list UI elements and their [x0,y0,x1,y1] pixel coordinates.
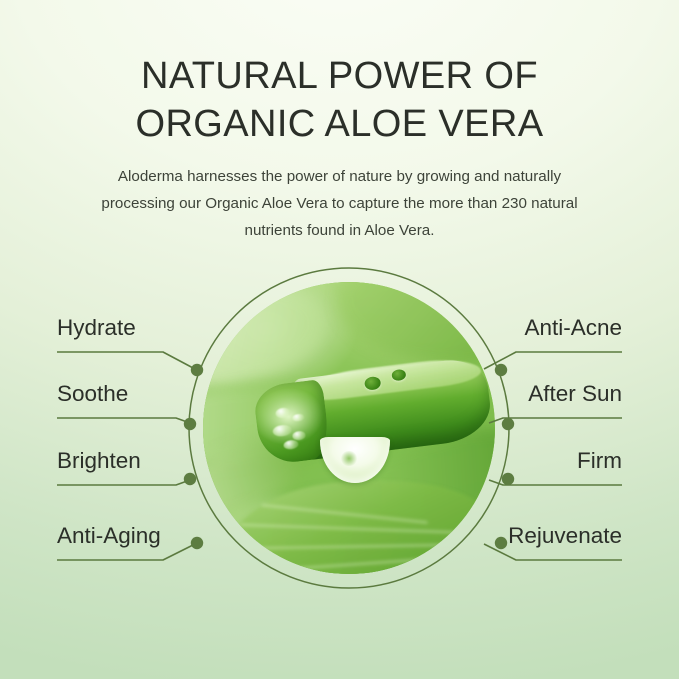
aloe-vera-photo [203,282,495,574]
connector-anti-acne [484,352,622,369]
photo-vignette [203,282,495,574]
connector-soothe [57,418,190,423]
node-dot-firm [502,473,514,485]
benefit-label-brighten: Brighten [57,450,141,473]
benefit-label-anti-acne: Anti-Acne [524,317,622,340]
node-dot-soothe [184,418,196,430]
benefit-label-soothe: Soothe [57,383,128,406]
node-dot-brighten [184,473,196,485]
benefit-label-anti-aging: Anti-Aging [57,525,161,548]
node-dot-anti-aging [191,537,203,549]
benefit-label-after-sun: After Sun [528,383,622,406]
connector-hydrate [57,352,195,369]
benefit-label-hydrate: Hydrate [57,317,136,340]
connector-brighten [57,480,190,485]
node-dot-after-sun [502,418,514,430]
connector-after-sun [489,418,622,423]
node-dot-rejuvenate [495,537,507,549]
aloe-vera-infographic: NATURAL POWER OF ORGANIC ALOE VERA Alode… [0,0,679,679]
node-dot-hydrate [191,364,203,376]
benefit-label-firm: Firm [577,450,622,473]
connector-firm [489,480,622,485]
benefits-diagram: Hydrate Soothe Brighten Anti-Aging Anti-… [0,0,679,679]
benefit-label-rejuvenate: Rejuvenate [508,525,622,548]
node-dot-anti-acne [495,364,507,376]
